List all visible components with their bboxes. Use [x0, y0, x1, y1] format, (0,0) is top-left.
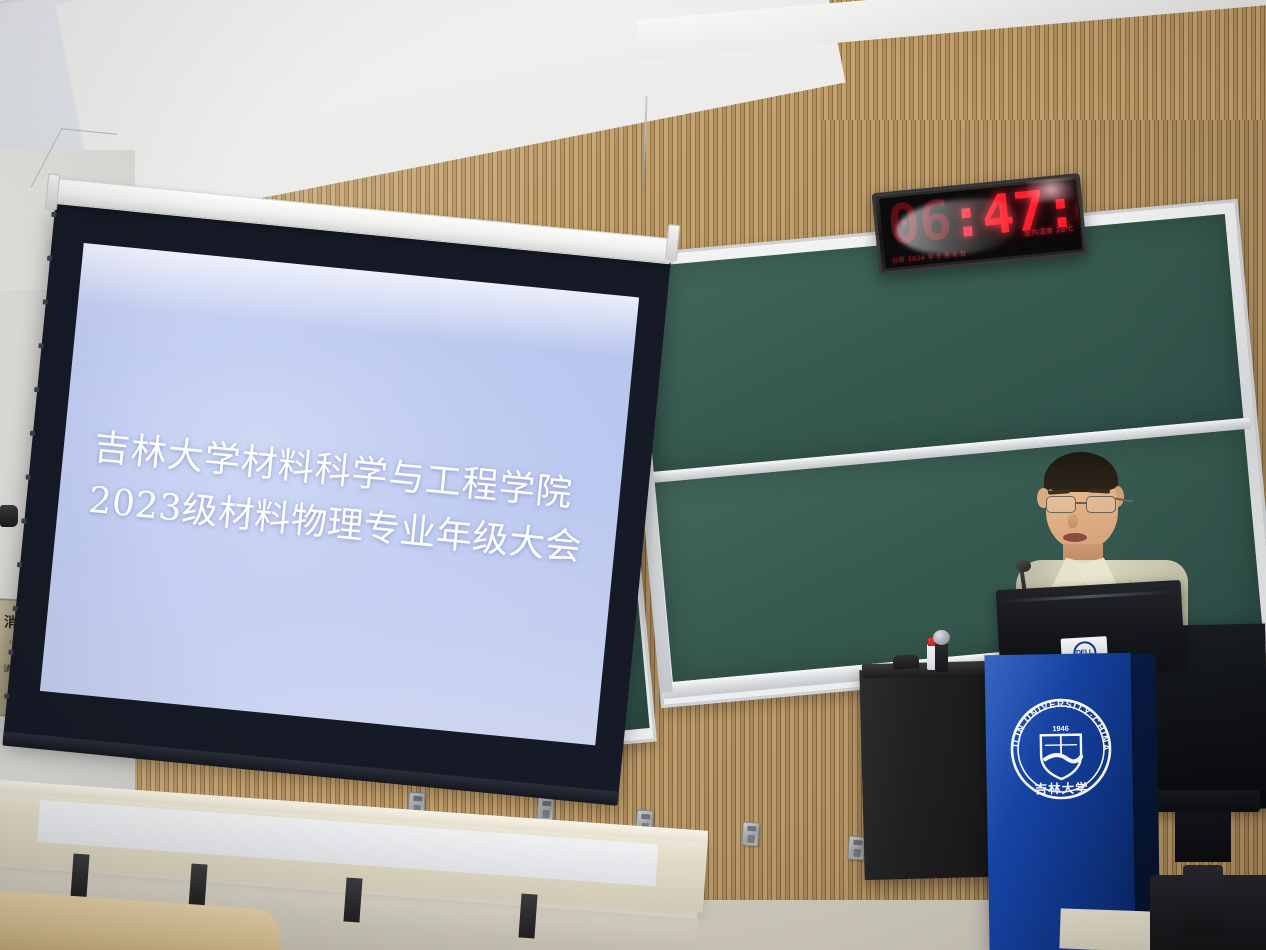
screen-fastener: [38, 343, 43, 348]
screen-housing-endcap-right: [665, 224, 680, 261]
glasses-bridge: [1076, 502, 1086, 504]
glasses-temple-arm: [1115, 498, 1133, 502]
screen-fastener: [13, 606, 18, 611]
chair-back-secondary: [1183, 865, 1223, 935]
gooseneck-microphone-head: [1016, 560, 1031, 572]
clock-display-face: 06:47:47 公历 2024 年 6 月 6 日 室内温度 28℃: [879, 179, 1082, 268]
screen-fastener: [30, 431, 35, 436]
person-mouth: [1063, 533, 1087, 542]
jlu-logo-chinese: 吉林大学: [1035, 781, 1089, 797]
projection-screen-assembly: 吉林大学材料科学与工程学院 2023级材料物理专业年级大会: [0, 178, 683, 847]
monitor-bezel-highlight: [1002, 590, 1174, 603]
desk-leg: [518, 893, 537, 938]
screen-fastener: [4, 693, 9, 698]
secondary-monitor-base: [1150, 790, 1260, 812]
person-hair-fringe: [1044, 464, 1118, 492]
jilin-university-logo: JILIN UNIVERSITY·CHINA 1946 吉林大学: [1004, 692, 1118, 806]
wall-speaker-mount: [0, 505, 18, 527]
clock-hours: 06: [885, 188, 954, 257]
screen-fastener: [17, 562, 22, 567]
screen-fastener: [34, 387, 39, 392]
jlu-logo-year: 1946: [1052, 724, 1069, 733]
lecture-hall-photo: 06:47:47 公历 2024 年 6 月 6 日 室内温度 28℃ 消火栓 …: [0, 0, 1266, 950]
slide-content: 吉林大学材料科学与工程学院 2023级材料物理专业年级大会: [86, 421, 589, 575]
desk-leg: [343, 877, 362, 922]
handheld-microphone-head: [933, 630, 950, 645]
glasses-lens-left: [1046, 496, 1076, 513]
glasses-lens-right: [1086, 496, 1116, 513]
desk-leg: [70, 853, 89, 898]
screen-fastener: [25, 474, 30, 479]
jlu-logo-svg: JILIN UNIVERSITY·CHINA 1946 吉林大学: [1004, 692, 1118, 806]
desk-leg: [188, 863, 207, 908]
clock-time-digits: 06:47:47: [885, 179, 1082, 256]
screen-fastener: [47, 256, 52, 261]
screen-fastener: [21, 518, 26, 523]
screen-fastener: [8, 650, 13, 655]
screen-fastener: [43, 299, 48, 304]
person-glasses: [1042, 496, 1124, 514]
person-nose: [1068, 514, 1078, 528]
wall-outlet[interactable]: [741, 821, 760, 846]
table-object: [893, 654, 920, 669]
projection-screen-surface: 吉林大学材料科学与工程学院 2023级材料物理专业年级大会: [40, 243, 639, 745]
screen-fastener: [51, 212, 56, 217]
